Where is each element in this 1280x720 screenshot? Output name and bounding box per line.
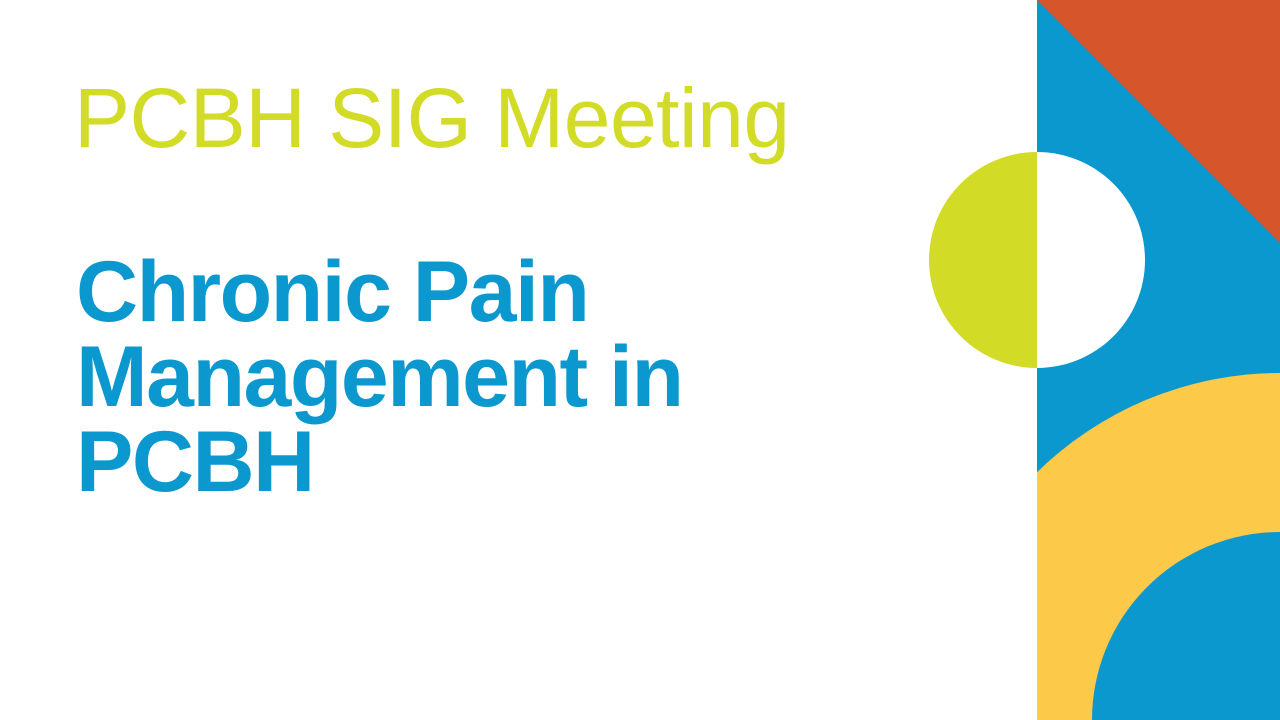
page-title: Chronic Pain Management in PCBH [76, 250, 836, 505]
title-slide: PCBH SIG Meeting Chronic Pain Management… [0, 0, 1280, 720]
text-area: PCBH SIG Meeting Chronic Pain Management… [0, 0, 1037, 720]
page-title-line-3: PCBH [76, 420, 836, 505]
page-title-line-1: Chronic Pain [76, 250, 836, 335]
page-title-line-2: Management in [76, 335, 836, 420]
orange-triangle-shape [1037, 0, 1280, 243]
slide-eyebrow: PCBH SIG Meeting [74, 76, 790, 160]
split-circle-right-half [1037, 152, 1145, 368]
blue-panel-shape [1037, 0, 1280, 720]
